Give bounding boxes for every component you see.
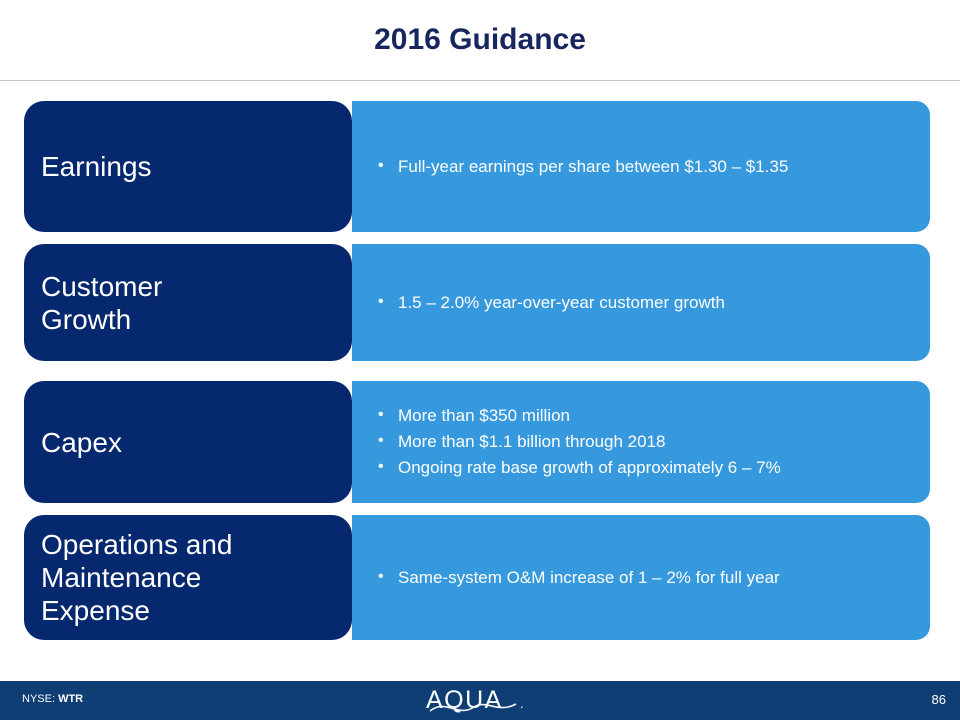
row-label-text: Capex [41, 426, 342, 459]
guidance-rows: Full-year earnings per share between $1.… [0, 81, 960, 671]
svg-text:.: . [520, 696, 524, 711]
row-label-earnings[interactable]: Earnings [24, 101, 352, 232]
list-item: Full-year earnings per share between $1.… [374, 154, 912, 180]
guidance-row: 1.5 – 2.0% year-over-year customer growt… [0, 244, 960, 361]
guidance-row: Full-year earnings per share between $1.… [0, 101, 960, 232]
bullet-list: Full-year earnings per share between $1.… [374, 154, 912, 180]
row-content-om-expense: Same-system O&M increase of 1 – 2% for f… [352, 515, 930, 640]
row-label-customer-growth[interactable]: Customer Growth [24, 244, 352, 361]
row-label-text: Customer Growth [41, 270, 342, 336]
page-title: 2016 Guidance [0, 23, 960, 57]
aqua-logo-icon: AQUA . [424, 686, 536, 716]
page-number: 86 [932, 692, 946, 707]
bullet-list: Same-system O&M increase of 1 – 2% for f… [374, 565, 912, 591]
row-content-capex: More than $350 million More than $1.1 bi… [352, 381, 930, 503]
list-item: 1.5 – 2.0% year-over-year customer growt… [374, 290, 912, 316]
row-content-customer-growth: 1.5 – 2.0% year-over-year customer growt… [352, 244, 930, 361]
bullet-list: 1.5 – 2.0% year-over-year customer growt… [374, 290, 912, 316]
row-content-earnings: Full-year earnings per share between $1.… [352, 101, 930, 232]
row-label-om-expense[interactable]: Operations and Maintenance Expense [24, 515, 352, 640]
row-label-text: Earnings [41, 150, 342, 183]
bullet-list: More than $350 million More than $1.1 bi… [374, 403, 912, 481]
guidance-row: Same-system O&M increase of 1 – 2% for f… [0, 515, 960, 640]
list-item: Same-system O&M increase of 1 – 2% for f… [374, 565, 912, 591]
list-item: More than $1.1 billion through 2018 [374, 429, 912, 455]
slide-footer: NYSE: WTR AQUA . 86 [0, 681, 960, 720]
row-label-capex[interactable]: Capex [24, 381, 352, 503]
aqua-logo: AQUA . [0, 686, 960, 716]
list-item: Ongoing rate base growth of approximatel… [374, 455, 912, 481]
guidance-row: More than $350 million More than $1.1 bi… [0, 381, 960, 503]
slide-header: 2016 Guidance [0, 0, 960, 81]
list-item: More than $350 million [374, 403, 912, 429]
row-label-text: Operations and Maintenance Expense [41, 528, 342, 627]
